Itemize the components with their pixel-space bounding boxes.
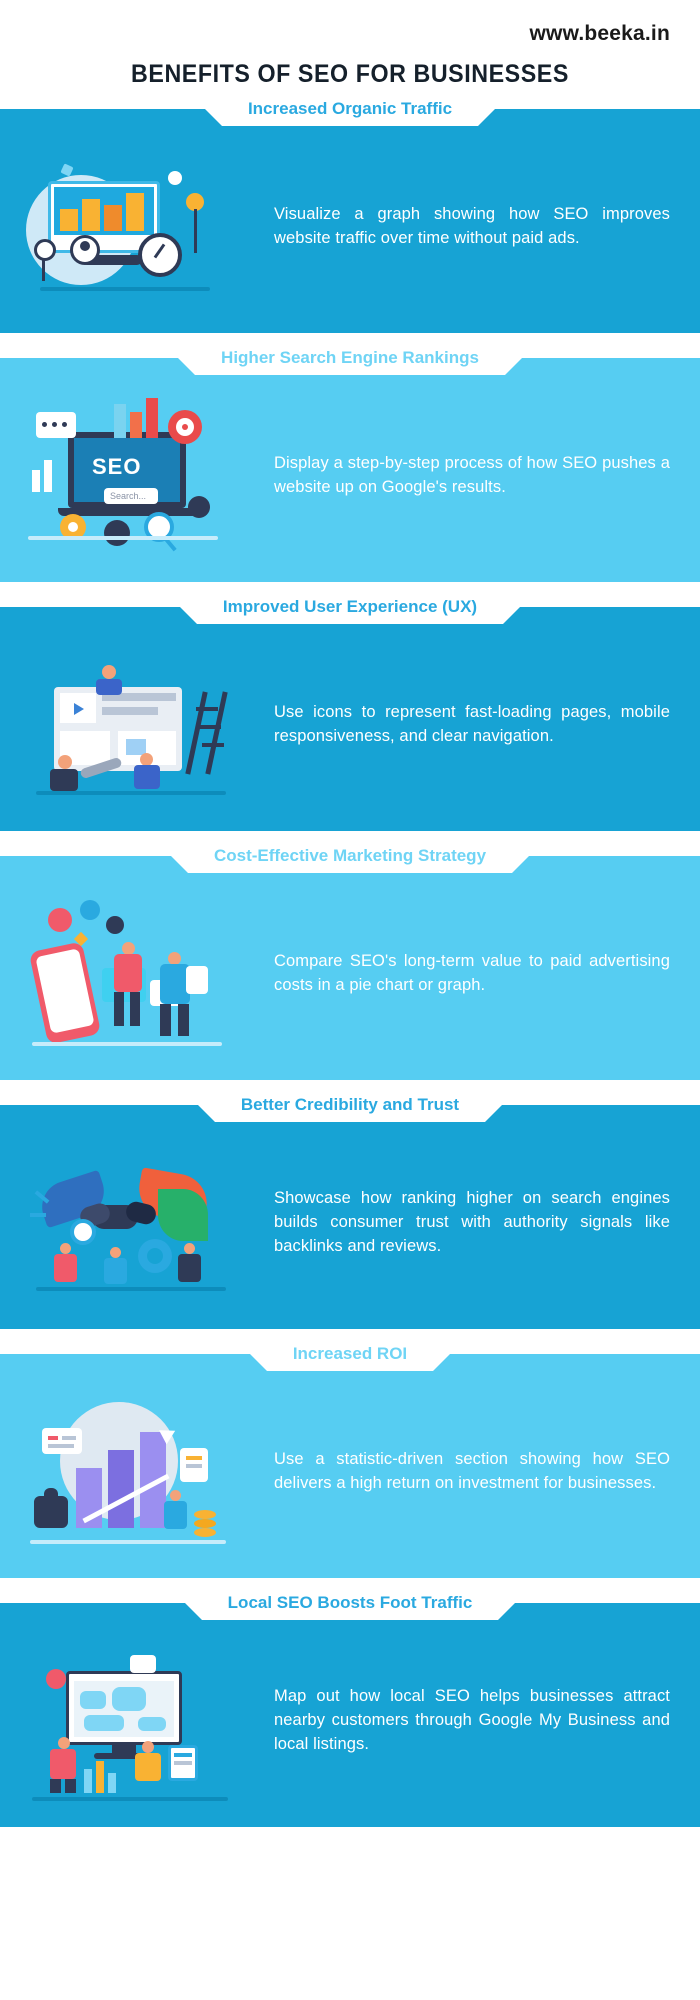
seo-laptop-illustration: SEO Search... [18,396,268,556]
benefit-section-4: Cost-Effective Marketing Strategy [0,856,700,1080]
benefit-section-5: Better Credibility and Trust [0,1105,700,1329]
ribbon-7: Local SEO Boosts Foot Traffic [0,1586,700,1620]
benefit-section-2: Higher Search Engine Rankings SEO Search… [0,358,700,582]
benefit-band-6: Use a statistic-driven section showing h… [0,1354,700,1578]
benefit-band-1: Visualize a graph showing how SEO improv… [0,109,700,333]
benefit-description-6: Use a statistic-driven section showing h… [268,1448,700,1496]
ribbon-4: Cost-Effective Marketing Strategy [0,839,700,873]
benefit-section-3: Improved User Experience (UX) [0,607,700,831]
benefit-band-2: SEO Search... [0,358,700,582]
benefit-description-7: Map out how local SEO helps businesses a… [268,1685,700,1757]
ribbon-3: Improved User Experience (UX) [0,590,700,624]
benefit-label-4: Cost-Effective Marketing Strategy [188,839,512,873]
benefit-label-3: Improved User Experience (UX) [197,590,503,624]
traffic-graph-illustration [18,147,268,307]
benefit-label-1: Increased Organic Traffic [222,92,478,126]
benefit-description-2: Display a step-by-step process of how SE… [268,452,700,500]
benefit-band-5: Showcase how ranking higher on search en… [0,1105,700,1329]
benefit-label-7: Local SEO Boosts Foot Traffic [202,1586,499,1620]
benefit-description-4: Compare SEO's long-term value to paid ad… [268,950,700,998]
benefit-band-7: Map out how local SEO helps businesses a… [0,1603,700,1827]
handshake-illustration [18,1143,268,1303]
benefit-section-1: Increased Organic Traffic [0,109,700,333]
benefit-description-1: Visualize a graph showing how SEO improv… [268,203,700,251]
benefit-label-6: Increased ROI [267,1337,433,1371]
benefit-band-3: Use icons to represent fast-loading page… [0,607,700,831]
roi-bar-chart-illustration [18,1392,268,1552]
search-box-text: Search... [110,491,150,501]
page-title: BENEFITS OF SEO FOR BUSINESSES [25,60,676,89]
benefit-band-4: Compare SEO's long-term value to paid ad… [0,856,700,1080]
local-map-illustration [18,1641,268,1801]
benefit-description-5: Showcase how ranking higher on search en… [268,1187,700,1259]
benefit-label-2: Higher Search Engine Rankings [195,341,505,375]
benefit-label-5: Better Credibility and Trust [215,1088,485,1122]
benefit-section-7: Local SEO Boosts Foot Traffic [0,1603,700,1827]
ux-builders-illustration [18,645,268,805]
benefits-list: Increased Organic Traffic [0,109,700,1827]
ribbon-1: Increased Organic Traffic [0,92,700,126]
ribbon-2: Higher Search Engine Rankings [0,341,700,375]
benefit-section-6: Increased ROI [0,1354,700,1578]
site-url: www.beeka.in [0,0,700,46]
marketing-phone-illustration [18,894,268,1054]
ribbon-5: Better Credibility and Trust [0,1088,700,1122]
benefit-description-3: Use icons to represent fast-loading page… [268,701,700,749]
ribbon-6: Increased ROI [0,1337,700,1371]
seo-screen-text: SEO [92,454,162,480]
